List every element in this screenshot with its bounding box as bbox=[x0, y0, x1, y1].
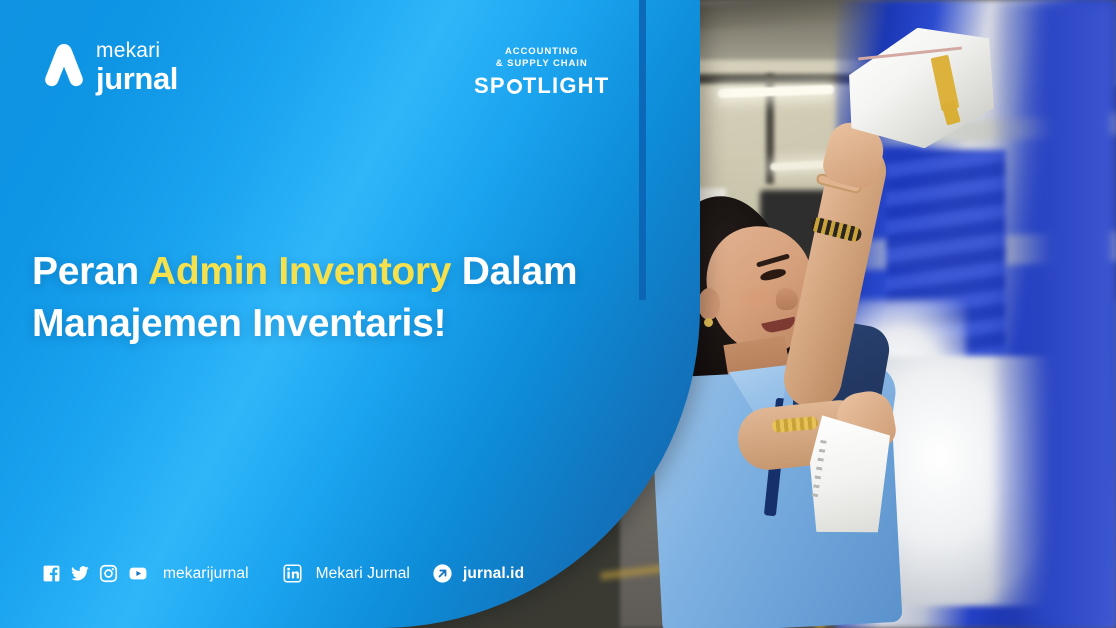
logo-jurnal-text: jurnal bbox=[96, 63, 178, 94]
spotlight-word-part-2: TLIGHT bbox=[523, 73, 610, 99]
spotlight-line-1: ACCOUNTING bbox=[474, 46, 609, 58]
headline-accent: Admin Inventory bbox=[148, 250, 451, 293]
panel-right-edge-strip bbox=[639, 0, 646, 300]
worker-earring bbox=[704, 318, 713, 327]
website-label: jurnal.id bbox=[463, 565, 524, 583]
social-icon-list bbox=[42, 564, 149, 583]
accounting-supply-chain-spotlight-logo: ACCOUNTING & SUPPLY CHAIN SP TLIGHT bbox=[474, 46, 609, 99]
arrow-up-right-circle-icon[interactable] bbox=[432, 563, 453, 584]
spotlight-wordmark: SP TLIGHT bbox=[474, 73, 609, 99]
facebook-icon[interactable] bbox=[42, 564, 61, 583]
linkedin-icon[interactable] bbox=[283, 564, 302, 583]
youtube-icon[interactable] bbox=[127, 564, 149, 583]
linkedin-label: Mekari Jurnal bbox=[316, 565, 410, 583]
worker-nose bbox=[776, 288, 798, 310]
spotlight-o-ring-icon bbox=[507, 79, 522, 94]
social-handle-label: mekarijurnal bbox=[163, 565, 249, 583]
headline-line-2: Manajemen Inventaris! bbox=[32, 302, 446, 345]
worker-cheek bbox=[738, 286, 778, 312]
logo-mekari-text: mekari bbox=[96, 40, 178, 61]
linkedin-group[interactable]: Mekari Jurnal bbox=[283, 564, 410, 583]
worker-ear bbox=[698, 288, 720, 320]
banner-root: mekari jurnal ACCOUNTING & SUPPLY CHAIN … bbox=[0, 0, 1116, 628]
spotlight-line-2: & SUPPLY CHAIN bbox=[474, 58, 609, 70]
website-group[interactable]: jurnal.id bbox=[432, 563, 524, 584]
headline-part-1: Peran bbox=[32, 250, 148, 293]
photo-blue-foreground-blur bbox=[996, 0, 1116, 628]
headline-part-2: Dalam bbox=[451, 250, 577, 293]
social-footer: mekarijurnal Mekari Jurnal bbox=[42, 563, 524, 584]
social-handle-group: mekarijurnal bbox=[42, 564, 249, 583]
page-title: Peran Admin Inventory Dalam Manajemen In… bbox=[32, 246, 632, 350]
spotlight-word-part-1: SP bbox=[474, 73, 506, 99]
instagram-icon[interactable] bbox=[99, 564, 118, 583]
mekari-a-mark-icon bbox=[44, 41, 84, 93]
mekari-jurnal-logo[interactable]: mekari jurnal bbox=[44, 40, 178, 94]
twitter-icon[interactable] bbox=[70, 564, 90, 583]
mekari-jurnal-wordmark: mekari jurnal bbox=[96, 40, 178, 94]
